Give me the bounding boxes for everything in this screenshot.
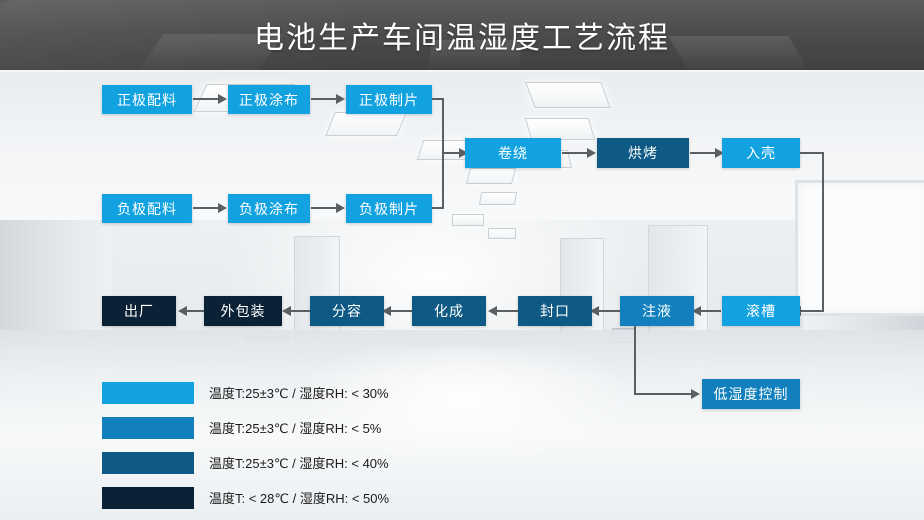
legend-row: 温度T:25±3℃ / 湿度RH: < 5% xyxy=(102,417,522,452)
slide-canvas: 电池生产车间温湿度工艺流程 正极配料 正极涂布 正极制片 负极配料 负极涂布 负… xyxy=(0,0,924,520)
ceiling-light-panel xyxy=(466,168,516,184)
arrow-right-icon xyxy=(336,94,345,104)
flow-box-formation[interactable]: 化成 xyxy=(412,296,486,326)
flow-box-label: 正极涂布 xyxy=(239,90,299,110)
flow-box-positive-sheeting[interactable]: 正极制片 xyxy=(346,85,432,114)
arrow-right-icon xyxy=(691,389,700,399)
connector-line xyxy=(690,152,716,154)
arrow-left-icon xyxy=(488,306,497,316)
connector-line xyxy=(193,98,219,100)
ceiling-light-panel xyxy=(488,228,516,239)
legend-swatch xyxy=(102,452,194,474)
arrow-right-icon xyxy=(218,94,227,104)
flow-box-groove-rolling[interactable]: 滚槽 xyxy=(722,296,800,326)
flow-box-label: 正极配料 xyxy=(117,90,177,110)
flow-box-negative-batching[interactable]: 负极配料 xyxy=(102,194,192,223)
flow-box-label: 正极制片 xyxy=(359,90,419,110)
flow-box-label: 低湿度控制 xyxy=(714,384,789,404)
flow-box-label: 滚槽 xyxy=(746,301,776,321)
connector-line xyxy=(311,207,337,209)
flow-box-label: 分容 xyxy=(332,301,362,321)
ceiling-light-panel xyxy=(479,192,517,205)
ceiling-light-panel xyxy=(325,112,407,136)
connector-line xyxy=(634,393,692,395)
wall-whiteboard xyxy=(795,180,924,316)
flow-box-baking[interactable]: 烘烤 xyxy=(597,138,689,168)
arrow-left-icon xyxy=(178,306,187,316)
flow-box-label: 入壳 xyxy=(746,143,776,163)
flow-box-label: 外包装 xyxy=(221,301,266,321)
flow-box-label: 卷绕 xyxy=(498,143,528,163)
connector-line xyxy=(800,310,824,312)
flow-box-capacity-grading[interactable]: 分容 xyxy=(310,296,384,326)
ceiling-light-panel xyxy=(452,214,484,226)
legend: 温度T:25±3℃ / 湿度RH: < 30% 温度T:25±3℃ / 湿度RH… xyxy=(102,382,522,520)
arrow-right-icon xyxy=(336,203,345,213)
legend-row: 温度T: < 28℃ / 湿度RH: < 50% xyxy=(102,487,522,520)
flow-box-label: 化成 xyxy=(434,301,464,321)
flow-box-shipment[interactable]: 出厂 xyxy=(102,296,176,326)
arrow-right-icon xyxy=(587,148,596,158)
legend-row: 温度T:25±3℃ / 湿度RH: < 40% xyxy=(102,452,522,487)
page-title: 电池生产车间温湿度工艺流程 xyxy=(0,0,924,70)
flow-box-label: 负极涂布 xyxy=(239,199,299,219)
flow-box-sealing[interactable]: 封口 xyxy=(518,296,592,326)
flow-box-label: 注液 xyxy=(642,301,672,321)
ceiling-light-panel xyxy=(525,82,610,108)
legend-swatch xyxy=(102,382,194,404)
connector-line xyxy=(822,152,824,312)
flow-box-outer-packaging[interactable]: 外包装 xyxy=(204,296,282,326)
flow-box-negative-sheeting[interactable]: 负极制片 xyxy=(346,194,432,223)
connector-line xyxy=(311,98,337,100)
legend-label: 温度T: < 28℃ / 湿度RH: < 50% xyxy=(209,488,389,507)
connector-line xyxy=(800,152,824,154)
flow-box-positive-coating[interactable]: 正极涂布 xyxy=(228,85,310,114)
flow-box-label: 负极制片 xyxy=(359,199,419,219)
arrow-left-icon xyxy=(282,306,291,316)
legend-swatch xyxy=(102,487,194,509)
connector-line xyxy=(634,326,636,394)
flow-box-label: 出厂 xyxy=(124,301,154,321)
flow-box-low-humidity-control[interactable]: 低湿度控制 xyxy=(702,379,800,409)
flow-box-winding[interactable]: 卷绕 xyxy=(465,138,561,168)
flow-box-liquid-injection[interactable]: 注液 xyxy=(620,296,694,326)
flow-box-positive-batching[interactable]: 正极配料 xyxy=(102,85,192,114)
legend-label: 温度T:25±3℃ / 湿度RH: < 30% xyxy=(209,383,389,402)
ceiling-light-panel xyxy=(525,118,595,140)
legend-label: 温度T:25±3℃ / 湿度RH: < 5% xyxy=(209,418,381,437)
connector-line xyxy=(442,152,460,154)
flow-box-negative-coating[interactable]: 负极涂布 xyxy=(228,194,310,223)
flow-box-label: 负极配料 xyxy=(117,199,177,219)
ceiling-beam xyxy=(137,34,284,70)
legend-row: 温度T:25±3℃ / 湿度RH: < 30% xyxy=(102,382,522,417)
flow-box-casing[interactable]: 入壳 xyxy=(722,138,800,168)
connector-line xyxy=(193,207,219,209)
header-divider xyxy=(0,70,924,72)
flow-box-label: 烘烤 xyxy=(628,143,658,163)
arrow-right-icon xyxy=(218,203,227,213)
connector-line xyxy=(562,152,588,154)
flow-box-label: 封口 xyxy=(540,301,570,321)
legend-swatch xyxy=(102,417,194,439)
title-banner: 电池生产车间温湿度工艺流程 xyxy=(0,0,924,70)
legend-label: 温度T:25±3℃ / 湿度RH: < 40% xyxy=(209,453,389,472)
